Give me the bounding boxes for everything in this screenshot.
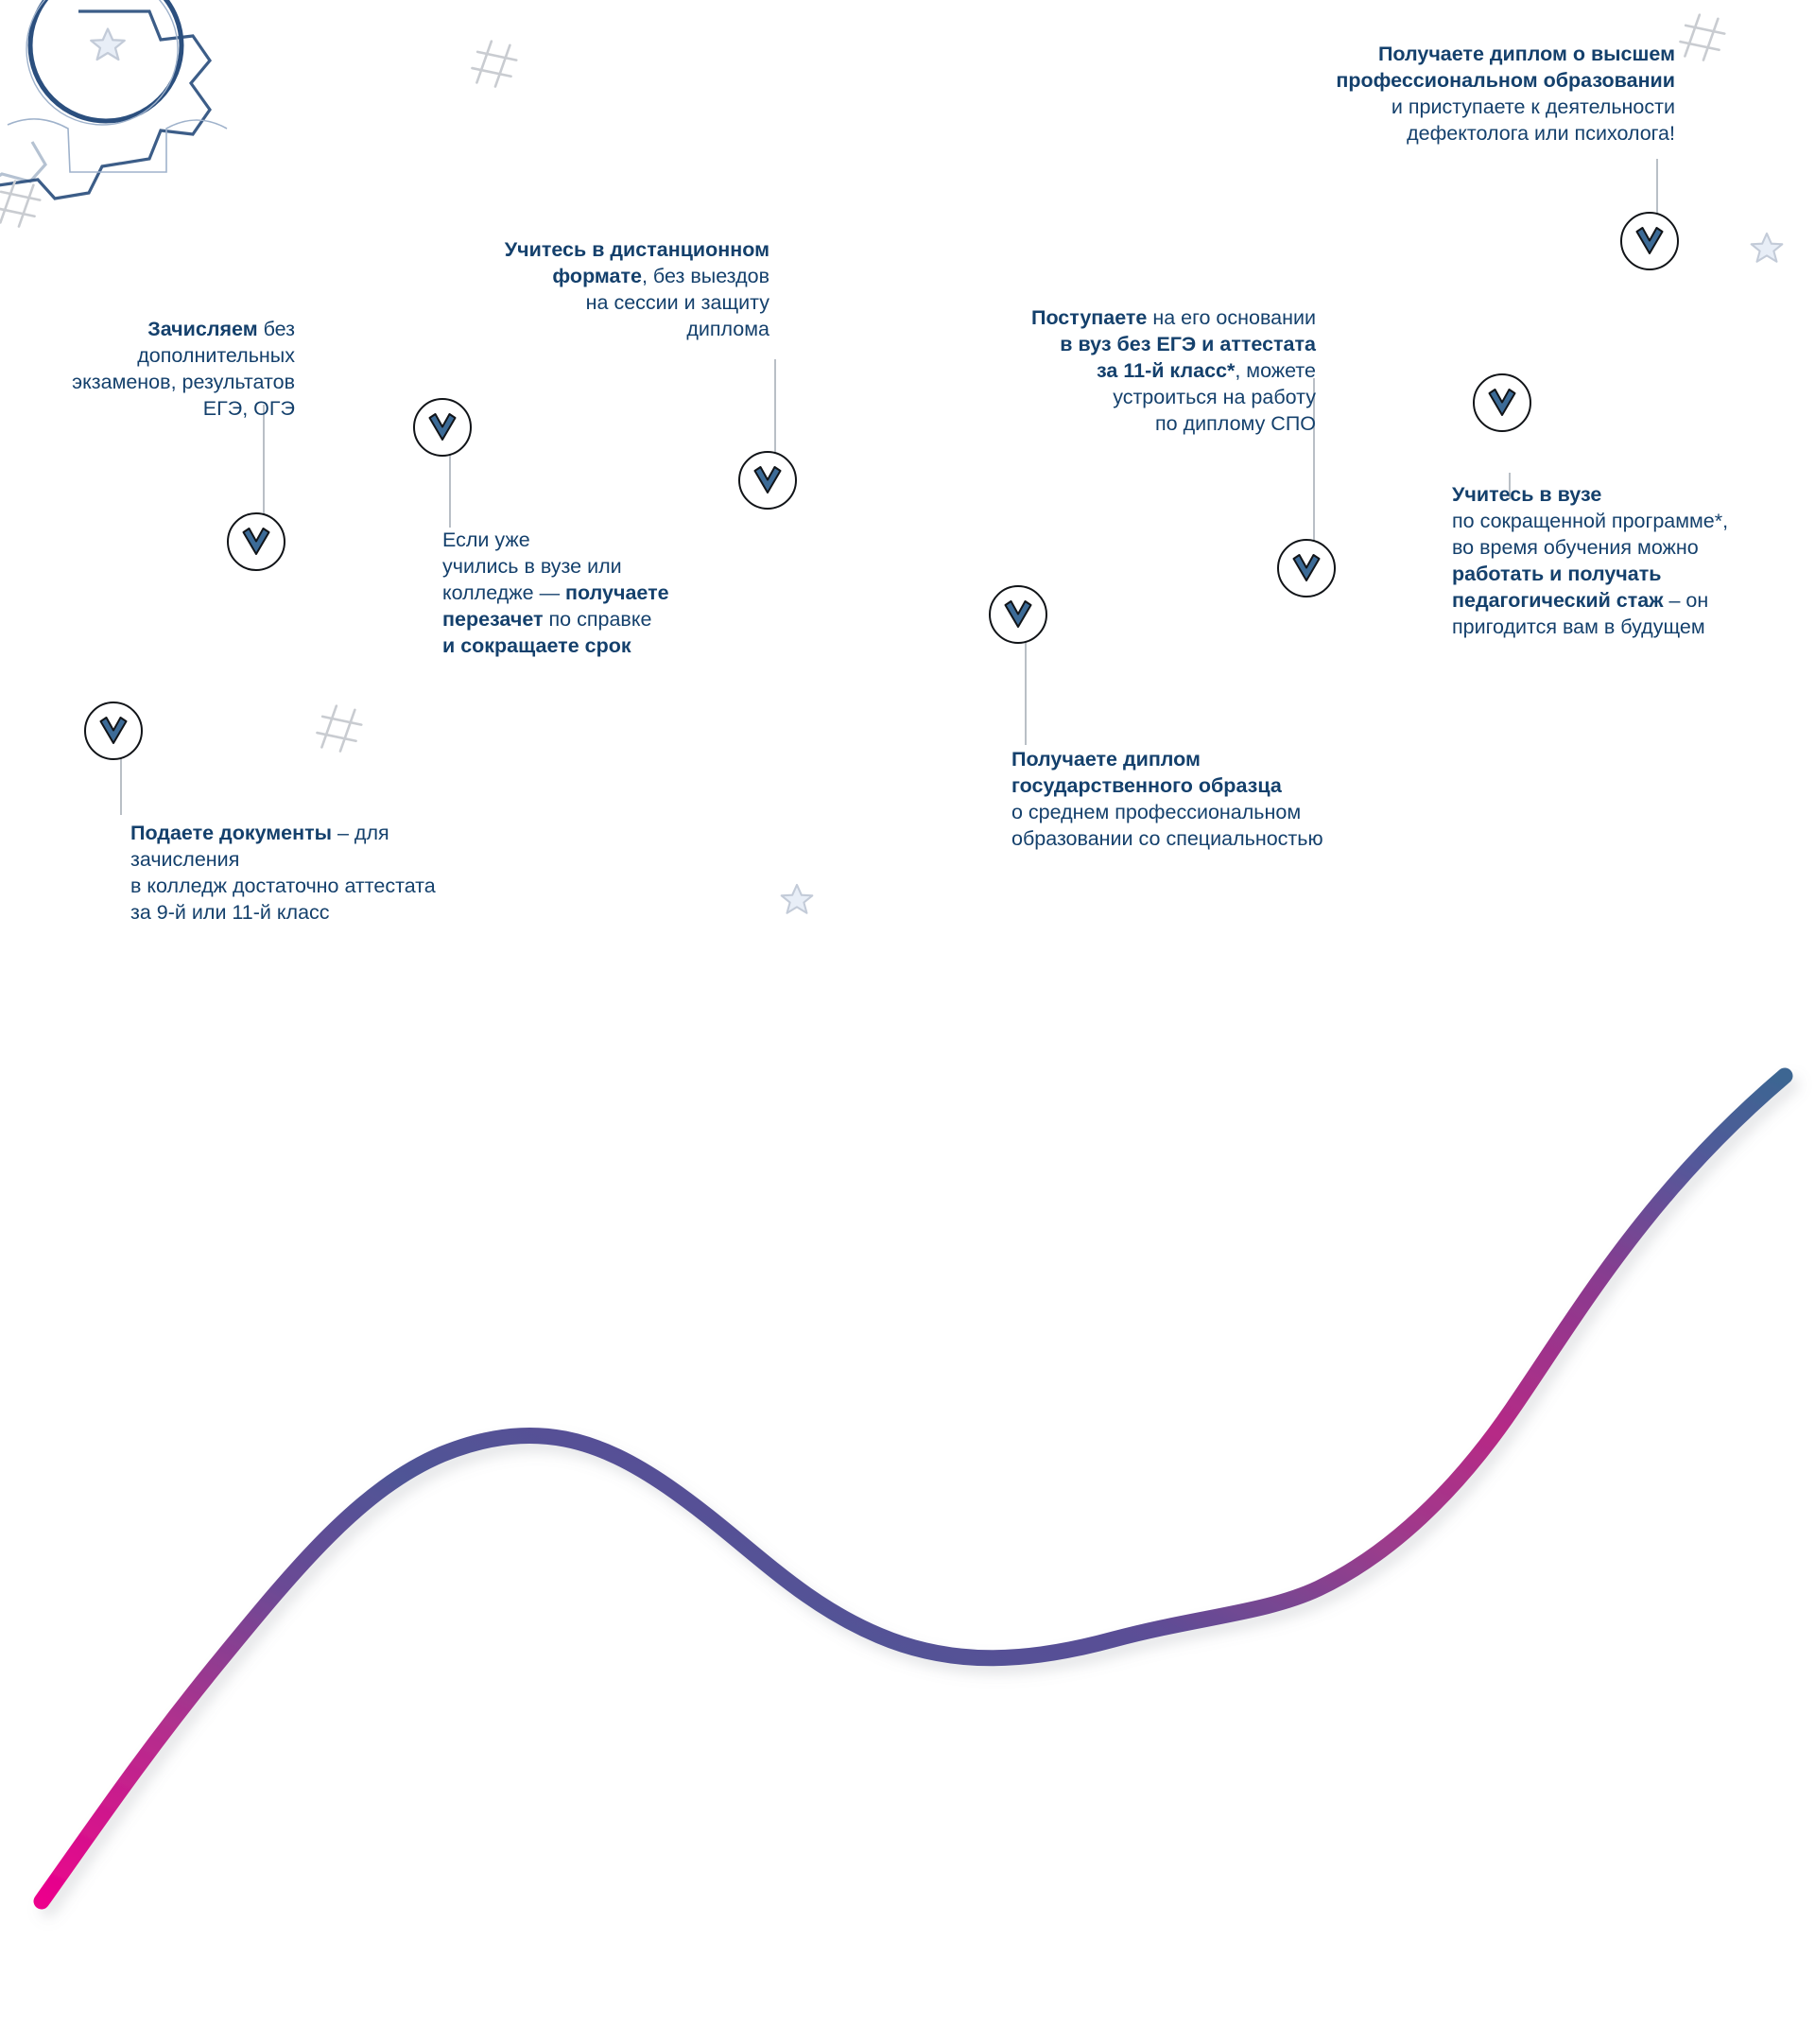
callout-line: работать и получать — [1452, 562, 1815, 588]
checkpoint-node-6[interactable] — [1277, 539, 1336, 598]
callout-line: государственного образца — [1011, 773, 1418, 800]
checkpoint-node-1[interactable] — [84, 702, 143, 760]
check-v-icon — [240, 526, 272, 558]
callout-university-admission: Поступаете на его основаниив вуз без ЕГЭ… — [832, 305, 1316, 438]
callout-line: образовании со специальностью — [1011, 826, 1418, 853]
callout-line: перезачет по справке — [442, 607, 745, 633]
callout-line: по сокращенной программе*, — [1452, 509, 1815, 535]
star-icon — [91, 29, 125, 61]
callout-line: пригодится вам в будущем — [1452, 615, 1815, 641]
gear-icon — [0, 0, 227, 199]
checkpoint-node-4[interactable] — [738, 451, 797, 510]
callout-credit-transfer: Если ужеучились в вузе иликолледже — пол… — [442, 528, 745, 660]
callout-line: Поступаете на его основании — [832, 305, 1316, 332]
check-v-icon — [1633, 225, 1666, 257]
callout-line: и сокращаете срок — [442, 633, 745, 660]
callout-line: о среднем профессиональном — [1011, 800, 1418, 826]
check-v-icon — [1486, 387, 1518, 419]
callout-enrollment: Зачисляем бездополнительныхэкзаменов, ре… — [0, 317, 295, 423]
callout-line: экзаменов, результатов — [0, 370, 295, 396]
callout-study-at-university: Учитесь в вузепо сокращенной программе*,… — [1452, 482, 1815, 641]
callout-line: в колледж достаточно аттестата — [130, 874, 537, 900]
checkpoint-node-2[interactable] — [227, 512, 285, 571]
callout-distance-learning: Учитесь в дистанционномформате, без выез… — [361, 237, 769, 343]
leader-line — [449, 452, 451, 528]
callout-line: на сессии и защиту — [361, 290, 769, 317]
callout-line: ЕГЭ, ОГЭ — [0, 396, 295, 423]
check-v-icon — [426, 411, 458, 443]
check-v-icon — [752, 464, 784, 496]
callout-line: и приступаете к деятельности — [1172, 95, 1675, 121]
callout-line: дефектолога или психолога! — [1172, 121, 1675, 147]
callout-line: профессиональном образовании — [1172, 68, 1675, 95]
hash-icon — [315, 703, 365, 754]
callout-line: по диплому СПО — [832, 411, 1316, 438]
callout-line: за 11-й класс*, можете — [832, 358, 1316, 385]
callout-line: в вуз без ЕГЭ и аттестата — [832, 332, 1316, 358]
star-icon — [1752, 234, 1783, 262]
callout-line: учились в вузе или — [442, 554, 745, 580]
infographic-canvas: Подаете документы – длязачисленияв колле… — [0, 0, 1815, 1022]
callout-state-diploma: Получаете дипломгосударственного образца… — [1011, 747, 1418, 853]
callout-line: Учитесь в дистанционном — [361, 237, 769, 264]
leader-line — [1656, 159, 1658, 217]
callout-line: формате, без выездов — [361, 264, 769, 290]
checkpoint-node-8[interactable] — [1620, 212, 1679, 270]
hash-icon — [1678, 12, 1728, 63]
callout-submit-documents: Подаете документы – длязачисленияв колле… — [130, 821, 537, 927]
callout-line: колледже — получаете — [442, 580, 745, 607]
callout-line: Получаете диплом о высшем — [1172, 42, 1675, 68]
check-v-icon — [1290, 552, 1322, 584]
check-v-icon — [1002, 598, 1034, 631]
callout-line: Учитесь в вузе — [1452, 482, 1815, 509]
leader-line — [120, 756, 122, 815]
checkpoint-node-5[interactable] — [989, 585, 1047, 644]
callout-line: Подаете документы – для — [130, 821, 537, 847]
callout-line: за 9-й или 11-й класс — [130, 900, 537, 927]
callout-higher-education-diploma: Получаете диплом о высшемпрофессионально… — [1172, 42, 1675, 147]
callout-line: диплома — [361, 317, 769, 343]
check-v-icon — [97, 715, 130, 747]
checkpoint-node-3[interactable] — [413, 398, 472, 457]
callout-line: устроиться на работу — [832, 385, 1316, 411]
callout-line: педагогический стаж – он — [1452, 588, 1815, 615]
hash-icon — [470, 39, 520, 90]
leader-line — [1025, 641, 1027, 745]
hash-icon — [0, 179, 43, 230]
star-icon — [782, 885, 813, 913]
checkpoint-node-7[interactable] — [1473, 373, 1531, 432]
callout-line: Зачисляем без — [0, 317, 295, 343]
callout-line: Получаете диплом — [1011, 747, 1418, 773]
journey-curve — [0, 1027, 1815, 2044]
callout-line: Если уже — [442, 528, 745, 554]
callout-line: во время обучения можно — [1452, 535, 1815, 562]
leader-line — [774, 359, 776, 458]
callout-line: зачисления — [130, 847, 537, 874]
curve-path — [42, 1076, 1785, 1901]
callout-line: дополнительных — [0, 343, 295, 370]
